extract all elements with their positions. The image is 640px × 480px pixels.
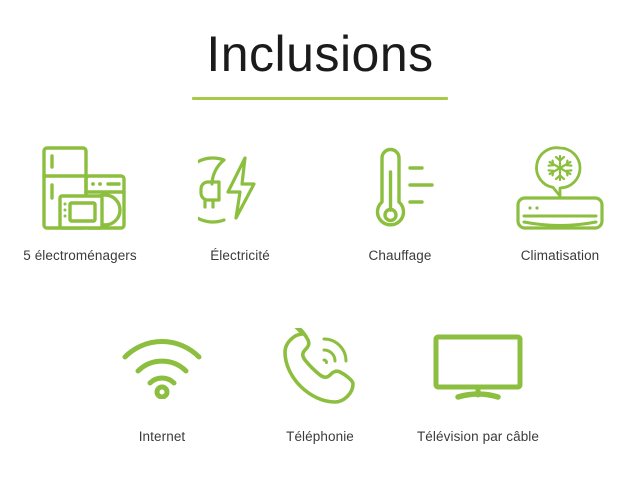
inclusions-slide: Inclusions (0, 0, 640, 480)
inclusion-label: Chauffage (369, 248, 432, 263)
inclusion-label: Télévision par câble (417, 429, 539, 444)
air-conditioner-snowflake-icon (512, 140, 608, 236)
inclusion-item-internet: Internet (83, 325, 241, 444)
inclusions-row-1: 5 électroménagers Électricité (0, 140, 640, 263)
inclusion-item-heating: Chauffage (320, 140, 480, 263)
inclusion-label: Climatisation (521, 248, 600, 263)
inclusion-label: Téléphonie (286, 429, 354, 444)
television-icon (432, 325, 524, 409)
inclusion-item-appliances: 5 électroménagers (0, 140, 160, 263)
inclusion-item-electricity: Électricité (160, 140, 320, 263)
inclusion-label: Internet (139, 429, 186, 444)
title-divider (192, 97, 448, 100)
inclusion-item-cable-tv: Télévision par câble (399, 325, 557, 444)
inclusion-item-air-conditioning: Climatisation (480, 140, 640, 263)
page-title: Inclusions (0, 26, 640, 82)
title-block: Inclusions (0, 26, 640, 100)
electricity-plug-bolt-icon (198, 140, 282, 236)
inclusion-item-telephone: Téléphonie (241, 325, 399, 444)
telephone-handset-icon (280, 325, 360, 409)
inclusions-row-2: Internet Téléphonie (0, 325, 640, 444)
inclusion-label: Électricité (210, 248, 270, 263)
thermometer-heat-icon (360, 140, 440, 236)
inclusion-label: 5 électroménagers (23, 248, 137, 263)
appliances-icon (32, 140, 128, 236)
wifi-icon (119, 325, 205, 409)
